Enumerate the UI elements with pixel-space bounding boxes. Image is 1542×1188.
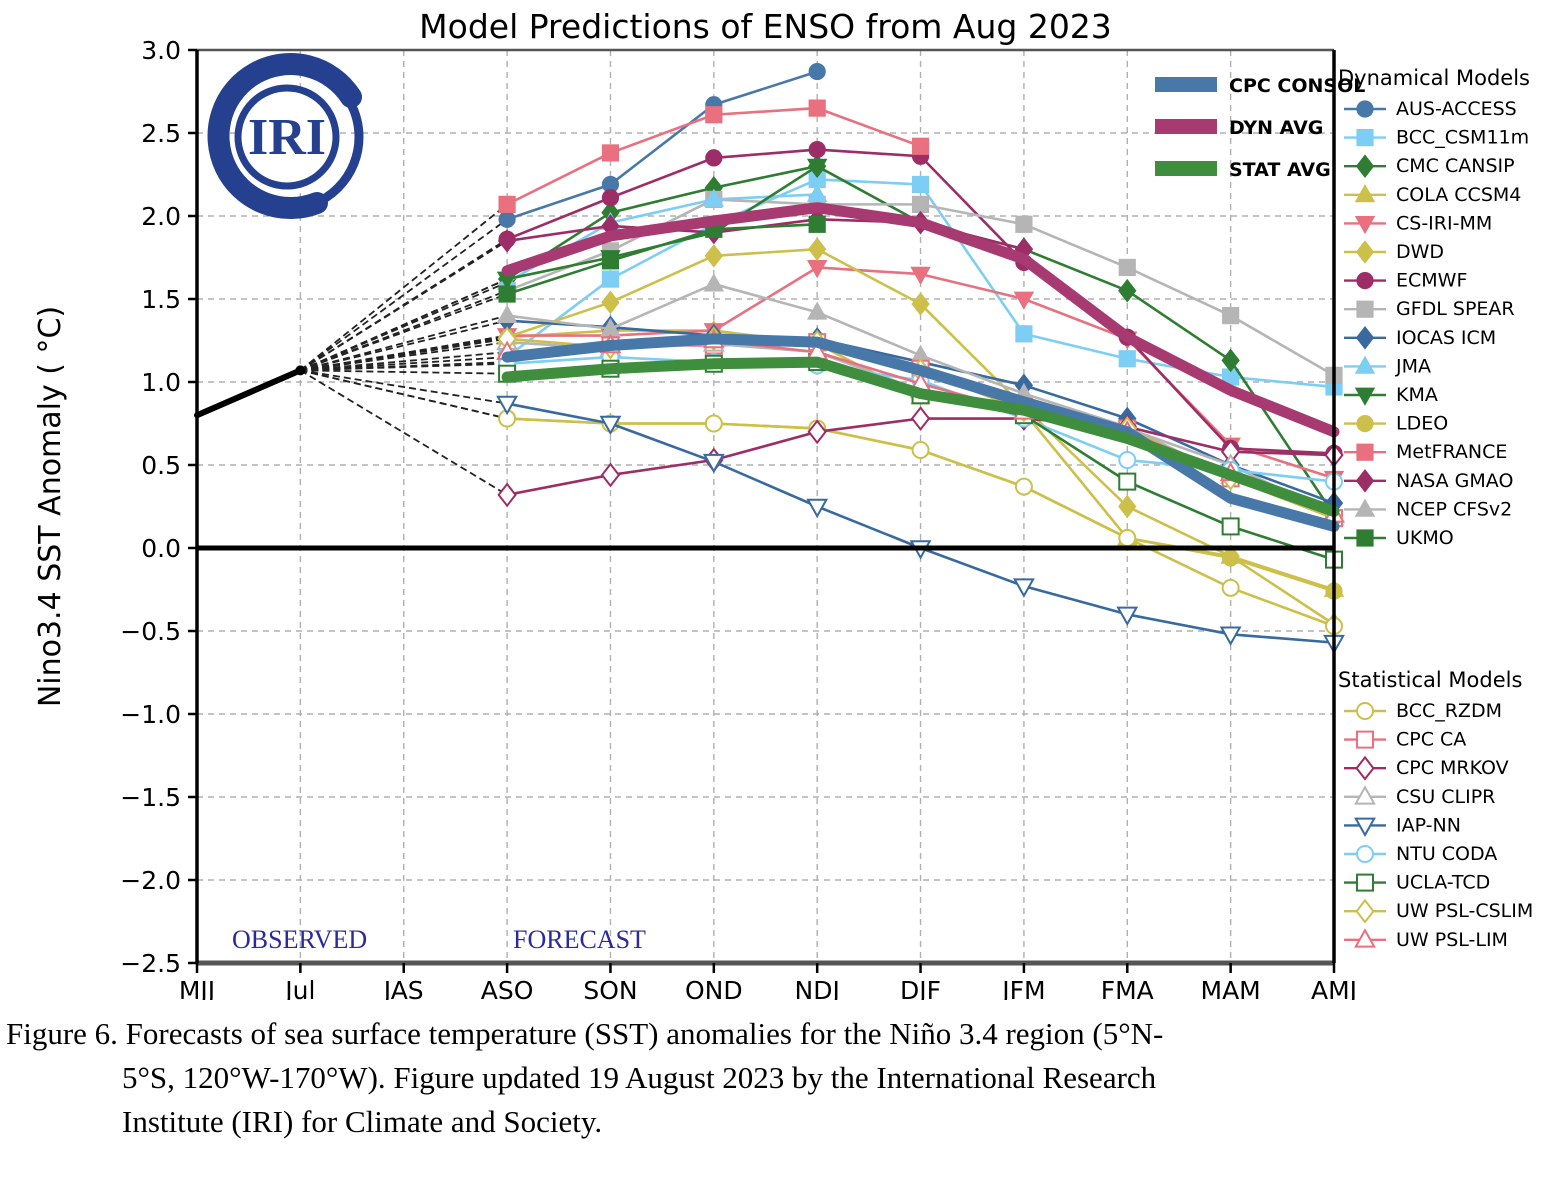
legend-label: STAT AVG <box>1229 159 1331 181</box>
legend-swatch <box>1155 119 1217 134</box>
data-point-circle <box>1357 416 1373 432</box>
data-point-triangle-down <box>1356 217 1374 233</box>
data-point-square <box>706 107 722 123</box>
legend-model-label: NASA GMAO <box>1396 470 1513 492</box>
legend-model-label: COLA CCSM4 <box>1396 184 1521 206</box>
data-point-diamond <box>1357 327 1374 349</box>
data-point-square <box>499 286 515 302</box>
iri-logo: IRI <box>215 64 359 209</box>
enso-chart-svg: 3.02.52.01.51.00.50.0−0.5−1.0−1.5−2.0−2.… <box>0 0 1542 1000</box>
legend-swatch <box>1155 77 1217 92</box>
figure-caption: Figure 6. Forecasts of sea surface tempe… <box>0 1012 1542 1144</box>
x-tick-label: JAS <box>382 976 424 1000</box>
legend-model-label: JMA <box>1395 355 1431 377</box>
data-point-circle <box>1119 530 1135 546</box>
data-point-square <box>1357 530 1373 546</box>
data-point-square <box>913 196 929 212</box>
y-tick-label: −1.0 <box>120 700 181 729</box>
legend-header: Statistical Models <box>1338 668 1522 692</box>
legend-model-label: NTU CODA <box>1396 843 1497 865</box>
data-point-square <box>913 138 929 154</box>
enso-forecast-figure: 3.02.52.01.51.00.50.0−0.5−1.0−1.5−2.0−2.… <box>0 0 1542 1000</box>
forecast-annotation: FORECAST <box>513 925 646 954</box>
legend-model-label: BCC_RZDM <box>1396 700 1502 722</box>
data-point-square <box>1357 732 1373 748</box>
data-point-circle <box>1223 580 1239 596</box>
data-point-triangle-up <box>1356 500 1374 516</box>
y-tick-label: 1.5 <box>141 285 181 314</box>
legend-model-label: MetFRANCE <box>1396 441 1507 463</box>
y-tick-label: −1.5 <box>120 783 181 812</box>
y-tick-label: 0.5 <box>141 451 181 480</box>
data-point-circle <box>809 142 825 158</box>
data-point-square <box>1223 308 1239 324</box>
y-tick-label: −0.5 <box>120 617 181 646</box>
legend-block: Dynamical ModelsAUS-ACCESSBCC_CSM11mCMC … <box>1338 66 1530 549</box>
x-tick-label: Jul <box>283 976 315 1000</box>
data-point-square <box>809 216 825 232</box>
legend-model-label: CSU CLIPR <box>1396 786 1495 808</box>
legend-model-label: CPC MRKOV <box>1396 757 1509 779</box>
data-point-square <box>602 253 618 269</box>
data-point-circle <box>499 211 515 227</box>
legend-model-label: BCC_CSM11m <box>1396 127 1529 149</box>
legend-label: DYN AVG <box>1229 117 1323 139</box>
y-tick-label: 2.0 <box>141 202 181 231</box>
data-point-square <box>1119 351 1135 367</box>
data-point-circle <box>1357 703 1373 719</box>
legend-block: Statistical ModelsBCC_RZDMCPC CACPC MRKO… <box>1338 668 1533 951</box>
plot-background <box>197 50 1334 963</box>
legend-model-label: CMC CANSIP <box>1396 155 1515 177</box>
legend-model-label: UW PSL-LIM <box>1396 929 1508 951</box>
legend-model-label: AUS-ACCESS <box>1396 98 1517 120</box>
data-point-triangle-up <box>1356 185 1374 201</box>
caption-line-3: Institute (IRI) for Climate and Society. <box>0 1100 1542 1144</box>
data-point-circle <box>602 190 618 206</box>
data-point-square <box>913 176 929 192</box>
data-point-circle <box>1357 273 1373 289</box>
y-tick-label: 1.0 <box>141 368 181 397</box>
data-point-square <box>1119 474 1135 490</box>
legend-model-label: DWD <box>1396 241 1444 263</box>
data-point-square <box>602 271 618 287</box>
caption-line-2: 5°S, 120°W-170°W). Figure updated 19 Aug… <box>0 1056 1542 1100</box>
data-point-triangle-up <box>1356 787 1374 803</box>
data-point-circle <box>1223 550 1239 566</box>
data-point-circle <box>706 150 722 166</box>
legend-model-label: UW PSL-CSLIM <box>1396 900 1533 922</box>
data-point-triangle-down <box>1356 388 1374 404</box>
x-tick-label: SON <box>583 976 637 1000</box>
data-point-circle <box>706 416 722 432</box>
legend-model-label: LDEO <box>1396 413 1448 435</box>
data-point-square <box>1016 326 1032 342</box>
data-point-diamond <box>1357 155 1374 177</box>
y-tick-label: 2.5 <box>141 119 181 148</box>
observed-annotation: OBSERVED <box>232 925 367 954</box>
data-point-square <box>1016 216 1032 232</box>
data-point-diamond <box>1357 900 1374 922</box>
legend-model-label: CS-IRI-MM <box>1396 212 1492 234</box>
x-tick-label: AMJ <box>1311 976 1357 1000</box>
data-point-square <box>1357 444 1373 460</box>
data-point-circle <box>1357 101 1373 117</box>
y-tick-label: 3.0 <box>141 36 181 65</box>
chart-title: Model Predictions of ENSO from Aug 2023 <box>419 7 1112 46</box>
x-tick-label: MAM <box>1201 976 1261 1000</box>
data-point-square <box>499 196 515 212</box>
x-tick-label: NDJ <box>795 976 840 1000</box>
data-point-square <box>809 100 825 116</box>
legend-model-label: GFDL SPEAR <box>1396 298 1515 320</box>
observed-endpoint <box>295 365 305 375</box>
legend-model-label: KMA <box>1396 384 1438 406</box>
y-tick-label: 0.0 <box>141 534 181 563</box>
data-point-diamond <box>1357 241 1374 263</box>
legend-model-label: IAP-NN <box>1396 814 1461 836</box>
data-point-circle <box>1016 479 1032 495</box>
data-point-triangle-up <box>1356 930 1374 946</box>
data-point-square <box>1357 875 1373 891</box>
x-tick-label: ASO <box>481 976 534 1000</box>
data-point-circle <box>1357 846 1373 862</box>
data-point-diamond <box>1357 757 1374 779</box>
legend-model-label: NCEP CFSv2 <box>1396 498 1512 520</box>
logo-text: IRI <box>248 109 326 166</box>
legend-header: Dynamical Models <box>1338 66 1530 90</box>
data-point-square <box>602 145 618 161</box>
data-point-circle <box>809 64 825 80</box>
x-tick-label: FMA <box>1101 976 1154 1000</box>
data-point-triangle-up <box>1356 357 1374 373</box>
data-point-triangle-down <box>1356 819 1374 835</box>
x-tick-label: OND <box>685 976 743 1000</box>
y-tick-label: −2.5 <box>120 949 181 978</box>
legend-model-label: UCLA-TCD <box>1396 872 1490 894</box>
legend-model-label: ECMWF <box>1396 270 1467 292</box>
data-point-diamond <box>1357 470 1374 492</box>
legend-model-label: IOCAS ICM <box>1396 327 1496 349</box>
data-point-circle <box>913 442 929 458</box>
x-tick-label: JFM <box>1000 976 1045 1000</box>
x-tick-label: MJJ <box>179 976 215 1000</box>
x-tick-label: DJF <box>900 976 941 1000</box>
legend-model-label: CPC CA <box>1396 729 1466 751</box>
legend-swatch <box>1155 161 1217 176</box>
y-tick-label: −2.0 <box>120 866 181 895</box>
data-point-circle <box>1119 452 1135 468</box>
y-axis-label: Nino3.4 SST Anomaly ( °C) <box>33 306 68 707</box>
data-point-square <box>1119 259 1135 275</box>
data-point-square <box>1357 301 1373 317</box>
data-point-square <box>1357 130 1373 146</box>
legend-model-label: UKMO <box>1396 527 1454 549</box>
caption-line-1: Figure 6. Forecasts of sea surface tempe… <box>0 1012 1542 1056</box>
data-point-square <box>1223 518 1239 534</box>
